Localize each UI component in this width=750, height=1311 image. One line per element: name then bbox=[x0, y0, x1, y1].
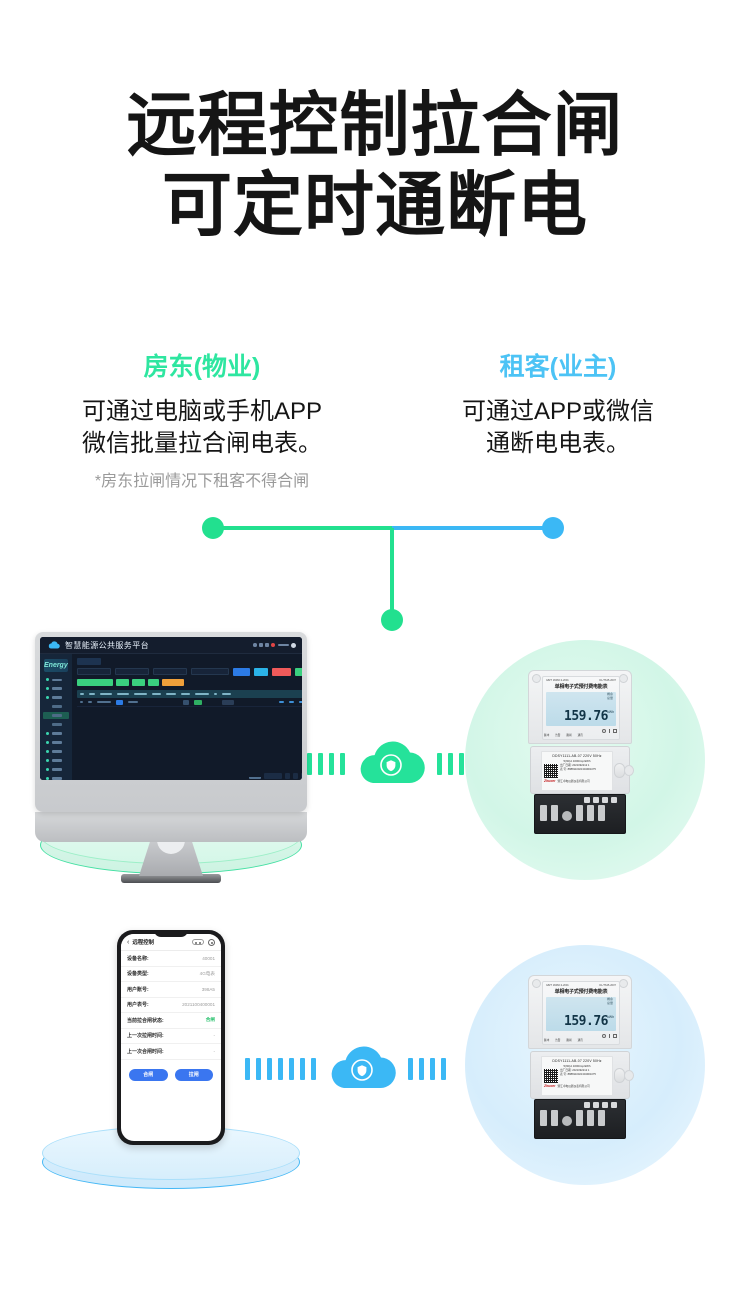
user-name-label bbox=[278, 644, 289, 646]
table-header-row bbox=[77, 690, 302, 698]
sidebar-item-9[interactable] bbox=[43, 757, 69, 764]
meter-label-housing: DDSY1111-AB-07 220V 50Hz 5(60)A 1600imp/… bbox=[530, 746, 630, 794]
pager-next-button[interactable] bbox=[301, 773, 302, 779]
meter-device: GB/T 18460.3-2001 DL/T645-2007 单相电子式预付费电… bbox=[528, 975, 632, 1141]
pager-page-1[interactable] bbox=[293, 773, 298, 779]
meter-company: 浙江卓电仪器仪表有限公司 bbox=[558, 779, 590, 783]
feature-column-tenant: 租客(业主) 可通过APP或微信 通断电电表。 bbox=[380, 352, 750, 493]
lcd-value: 159.76 bbox=[564, 709, 608, 724]
meter-screw-icon bbox=[532, 674, 541, 683]
form-row-value: - bbox=[213, 1049, 215, 1054]
meter-label-housing: DDSY1111-AB-07 220V 50Hz 5(60)A 1600imp/… bbox=[530, 1051, 630, 1099]
form-row-value: 398A5 bbox=[202, 987, 215, 992]
lcd-label-2: 总量 bbox=[549, 1002, 613, 1006]
meter-model-name: 单相电子式预付费电能表 bbox=[546, 683, 616, 690]
meter-led-group: 通讯 bbox=[578, 1028, 583, 1046]
meter-led-group: 跳闸 bbox=[566, 1028, 571, 1046]
meter-led-group: 通讯 bbox=[578, 723, 583, 741]
meter-side-icons bbox=[602, 729, 617, 733]
link-phone-to-meter bbox=[245, 1040, 446, 1097]
meter-led-group: 跳闸 bbox=[566, 723, 571, 741]
meter-label-model: DDSY1111-AB-07 220V 50Hz bbox=[544, 754, 610, 758]
batch-open-button[interactable] bbox=[272, 668, 291, 676]
landlord-body-line-1: 可通过电脑或手机APP bbox=[24, 396, 380, 428]
open-switch-button[interactable]: 拉闸 bbox=[175, 1069, 214, 1081]
monitor-body: 智慧能源公共服务平台 Energy bbox=[35, 632, 307, 812]
meter-illustration-green: GB/T 18460.3-2001 DL/T645-2007 单相电子式预付费电… bbox=[460, 635, 710, 885]
meter-screw-icon bbox=[532, 979, 541, 988]
reset-button[interactable] bbox=[254, 668, 268, 676]
led-label: 通讯 bbox=[578, 1039, 583, 1042]
sidebar-item-10[interactable] bbox=[43, 766, 69, 773]
form-row-key: 上一次合闸时间: bbox=[127, 1048, 164, 1055]
action-chip-bar bbox=[77, 679, 302, 687]
table-pager bbox=[77, 773, 302, 779]
connector-dot-right bbox=[542, 517, 564, 539]
headline-line-1: 远程控制拉合闸 bbox=[0, 88, 750, 162]
meter-mounting-ear bbox=[624, 1070, 634, 1081]
connector-dot-left bbox=[202, 517, 224, 539]
meter-bar-icon bbox=[609, 729, 610, 733]
qr-code-icon bbox=[544, 764, 558, 778]
sidebar-item-8[interactable] bbox=[43, 748, 69, 755]
form-row-value: - bbox=[213, 1033, 215, 1038]
filter-select-type[interactable] bbox=[115, 668, 149, 675]
sidebar-item-0[interactable] bbox=[43, 676, 69, 683]
meter-illustration-blue: GB/T 18460.3-2001 DL/T645-2007 单相电子式预付费电… bbox=[460, 940, 710, 1190]
tenant-title: 租客(业主) bbox=[380, 352, 736, 382]
meter-terminal-block bbox=[534, 794, 626, 834]
dashboard-app-title: 智慧能源公共服务平台 bbox=[65, 640, 149, 651]
led-label: 通讯 bbox=[578, 734, 583, 737]
meter-lcd-display: 剩余 总量 kWh 159.76 bbox=[546, 997, 616, 1031]
export-button[interactable] bbox=[116, 679, 129, 687]
terminal-square-icon bbox=[584, 1102, 590, 1108]
close-switch-button[interactable]: 合闸 bbox=[129, 1069, 168, 1081]
terminal-block-pin bbox=[551, 805, 558, 821]
link-dashes-left bbox=[245, 1058, 316, 1080]
meter-square-icon bbox=[613, 729, 617, 733]
tenant-body: 可通过APP或微信 通断电电表。 bbox=[380, 396, 736, 461]
sidebar-item-3[interactable] bbox=[43, 703, 69, 710]
led-label: 告警 bbox=[555, 1039, 560, 1042]
terminal-block-pin bbox=[598, 805, 605, 821]
sidebar-bullet-icon bbox=[46, 741, 49, 744]
terminal-block-pin bbox=[576, 1110, 583, 1126]
form-row-key: 用户账号: bbox=[127, 986, 149, 993]
sidebar-item-4[interactable] bbox=[43, 712, 69, 719]
form-row: 上一次拉闸时间: - bbox=[121, 1029, 221, 1045]
dashboard-body: Energy bbox=[40, 654, 302, 780]
status-badge: 合闸 bbox=[206, 1017, 215, 1023]
meter-label-line-2: 表 号: 8888110021304901075 bbox=[560, 1073, 610, 1077]
meter-standards: GB/T 18460.3-2001 DL/T645-2007 bbox=[546, 984, 616, 987]
avatar[interactable] bbox=[291, 643, 296, 648]
lcd-value: 159.76 bbox=[564, 1014, 608, 1029]
form-row-key: 设备类型: bbox=[127, 970, 149, 977]
led-label: 跳闸 bbox=[566, 1039, 571, 1042]
meter-lcd-display: 剩余 总量 kWh 159.76 bbox=[546, 692, 616, 726]
form-row: 上一次合闸时间: - bbox=[121, 1044, 221, 1060]
meter-label-spec: 5(60)A 1600imp/kWh bbox=[544, 759, 610, 763]
form-row-switch-status: 当前拉合闸状态: 合闸 bbox=[121, 1013, 221, 1029]
meter-nameplate: DDSY1111-AB-07 220V 50Hz 5(60)A 1600imp/… bbox=[541, 751, 613, 791]
meter-company: 浙江卓电仪器仪表有限公司 bbox=[558, 1084, 590, 1088]
terminal-round-pin bbox=[562, 811, 572, 821]
sidebar-bullet-icon bbox=[46, 678, 49, 681]
meter-label-line-2: 表 号: 8888110021304901075 bbox=[560, 768, 610, 772]
dashboard-sidebar: Energy bbox=[40, 654, 72, 780]
sidebar-item-7[interactable] bbox=[43, 739, 69, 746]
meter-standard-left: GB/T 18460.3-2001 bbox=[546, 984, 569, 987]
sidebar-logo: Energy bbox=[44, 659, 68, 672]
lcd-label-2: 总量 bbox=[549, 697, 613, 701]
sidebar-bullet-icon bbox=[46, 768, 49, 771]
headline-line-2: 可定时通断电 bbox=[0, 168, 750, 242]
landlord-body: 可通过电脑或手机APP 微信批量拉合闸电表。 bbox=[24, 396, 380, 461]
pager-total-label bbox=[249, 773, 261, 779]
meter-model-name: 单相电子式预付费电能表 bbox=[546, 988, 616, 995]
table-empty-area bbox=[77, 707, 302, 769]
remote-batch-switch-button[interactable] bbox=[77, 679, 113, 687]
meter-circle-icon bbox=[602, 1034, 606, 1038]
terminal-block-pin bbox=[551, 1110, 558, 1126]
lcd-unit: kWh bbox=[607, 1015, 614, 1019]
monitor-chin bbox=[35, 812, 307, 842]
terminal-block-pin bbox=[540, 1110, 547, 1126]
form-row: 用户表号: 2021100400001 bbox=[121, 998, 221, 1014]
form-row: 设备名称: 40001 bbox=[121, 951, 221, 967]
phone-device: ‹ 远程控制 设备名称: 40001 设备类型: 4G电表 bbox=[117, 930, 225, 1145]
filter-select-device[interactable] bbox=[77, 668, 111, 675]
notification-bell-icon[interactable] bbox=[271, 643, 275, 647]
terminal-square-icon bbox=[602, 797, 608, 803]
sidebar-item-11[interactable] bbox=[43, 775, 69, 780]
sidebar-bullet-icon bbox=[46, 759, 49, 762]
meter-standard-left: GB/T 18460.3-2001 bbox=[546, 679, 569, 682]
search-input[interactable] bbox=[191, 668, 229, 675]
promo-page: 远程控制拉合闸 可定时通断电 房东(物业) 可通过电脑或手机APP 微信批量拉合… bbox=[0, 0, 750, 1311]
meter-led-group: 脉冲 bbox=[544, 1028, 549, 1046]
terminal-square-icon bbox=[611, 1102, 617, 1108]
meter-screw-icon bbox=[619, 979, 628, 988]
form-row: 设备类型: 4G电表 bbox=[121, 967, 221, 983]
sidebar-item-6[interactable] bbox=[43, 730, 69, 737]
more-pill-icon[interactable] bbox=[192, 939, 204, 945]
meter-circle-icon bbox=[602, 729, 606, 733]
meter-screw-icon bbox=[619, 674, 628, 683]
pager-prev-button[interactable] bbox=[285, 773, 290, 779]
page-size-select[interactable] bbox=[264, 773, 282, 779]
query-button[interactable] bbox=[233, 668, 250, 676]
terminal-block-pin bbox=[598, 1110, 605, 1126]
terminal-square-icon bbox=[611, 797, 617, 803]
meter-top-housing: GB/T 18460.3-2001 DL/T645-2007 单相电子式预付费电… bbox=[528, 670, 632, 744]
filter-select-status[interactable] bbox=[153, 668, 187, 675]
filter-bar bbox=[77, 668, 302, 676]
feature-columns: 房东(物业) 可通过电脑或手机APP 微信批量拉合闸电表。 *房东拉闸情况下租客… bbox=[0, 352, 750, 493]
dashboard-topbar: 智慧能源公共服务平台 bbox=[40, 637, 302, 654]
sidebar-bullet-icon bbox=[46, 750, 49, 753]
cloud-icon bbox=[48, 641, 60, 649]
meter-top-housing: GB/T 18460.3-2001 DL/T645-2007 单相电子式预付费电… bbox=[528, 975, 632, 1049]
computer-illustration: 智慧能源公共服务平台 Energy bbox=[20, 630, 320, 890]
table-row[interactable] bbox=[77, 698, 302, 707]
meter-mounting-ear bbox=[624, 765, 634, 776]
form-row-key: 当前拉合闸状态: bbox=[127, 1017, 164, 1024]
fullscreen-icon[interactable] bbox=[265, 643, 269, 647]
sidebar-bullet-icon bbox=[46, 696, 49, 699]
form-row-key: 设备名称: bbox=[127, 955, 149, 962]
cloud-shield-icon bbox=[324, 1040, 400, 1097]
landlord-title: 房东(物业) bbox=[24, 352, 380, 382]
grid-icon[interactable] bbox=[259, 643, 263, 647]
info-icon[interactable] bbox=[253, 643, 257, 647]
monitor-screen: 智慧能源公共服务平台 Energy bbox=[40, 637, 302, 780]
action-button-row: 合闸 拉闸 bbox=[121, 1060, 221, 1081]
meter-led-group: 告警 bbox=[555, 723, 560, 741]
sidebar-logo-text: Energy bbox=[44, 662, 68, 669]
terminal-square-icon bbox=[602, 1102, 608, 1108]
chevron-left-icon[interactable]: ‹ bbox=[127, 939, 129, 946]
timer-task-button[interactable] bbox=[162, 679, 184, 687]
terminal-block-pin bbox=[587, 1110, 594, 1126]
sidebar-bullet-icon bbox=[46, 777, 49, 780]
form-row-value: 2021100400001 bbox=[182, 1002, 215, 1007]
phone-notch bbox=[154, 930, 188, 937]
meter-device: GB/T 18460.3-2001 DL/T645-2007 单相电子式预付费电… bbox=[528, 670, 632, 836]
meter-standard-right: DL/T645-2007 bbox=[599, 679, 616, 682]
meter-brand: Zhuoer bbox=[544, 779, 556, 783]
meter-label-spec: 5(60)A 1600imp/kWh bbox=[544, 1064, 610, 1068]
tenant-body-line-2: 通断电电表。 bbox=[380, 428, 736, 460]
form-row-key: 用户表号: bbox=[127, 1001, 149, 1008]
refresh-button[interactable] bbox=[132, 679, 145, 687]
qr-code-icon bbox=[544, 1069, 558, 1083]
meter-label-model: DDSY1111-AB-07 220V 50Hz bbox=[544, 1059, 610, 1063]
meter-standards: GB/T 18460.3-2001 DL/T645-2007 bbox=[546, 679, 616, 682]
form-row-key: 上一次拉闸时间: bbox=[127, 1032, 164, 1039]
cloud-shield-icon bbox=[353, 735, 429, 792]
app-title: 远程控制 bbox=[132, 938, 154, 946]
terminal-block-pin bbox=[587, 805, 594, 821]
meter-side-icons bbox=[602, 1034, 617, 1038]
sidebar-item-2[interactable] bbox=[43, 694, 69, 701]
led-label: 跳闸 bbox=[566, 734, 571, 737]
meter-led-group: 脉冲 bbox=[544, 723, 549, 741]
meter-square-icon bbox=[613, 1034, 617, 1038]
tenant-body-line-1: 可通过APP或微信 bbox=[380, 396, 736, 428]
sidebar-item-5[interactable] bbox=[43, 721, 69, 728]
lcd-unit: kWh bbox=[607, 710, 614, 714]
connector-dot-bottom bbox=[381, 609, 403, 631]
terminal-square-icon bbox=[593, 797, 599, 803]
landlord-note: *房东拉闸情况下租客不得合闸 bbox=[24, 472, 380, 493]
meter-bar-icon bbox=[609, 1034, 610, 1038]
connector-diagram bbox=[0, 505, 750, 635]
batch-close-button[interactable] bbox=[295, 668, 302, 676]
sidebar-item-1[interactable] bbox=[43, 685, 69, 692]
form-row: 用户账号: 398A5 bbox=[121, 982, 221, 998]
terminal-block-pin bbox=[540, 805, 547, 821]
terminal-block-pin bbox=[576, 805, 583, 821]
phone-screen: ‹ 远程控制 设备名称: 40001 设备类型: 4G电表 bbox=[121, 934, 221, 1141]
led-label: 脉冲 bbox=[544, 734, 549, 737]
led-label: 脉冲 bbox=[544, 1039, 549, 1042]
meter-nameplate: DDSY1111-AB-07 220V 50Hz 5(60)A 1600imp/… bbox=[541, 1056, 613, 1096]
led-label: 告警 bbox=[555, 734, 560, 737]
feature-column-landlord: 房东(物业) 可通过电脑或手机APP 微信批量拉合闸电表。 *房东拉闸情况下租客… bbox=[0, 352, 380, 493]
meter-terminal-block bbox=[534, 1099, 626, 1139]
form-row-value: 40001 bbox=[202, 956, 215, 961]
gear-icon[interactable] bbox=[208, 939, 215, 946]
terminal-round-pin bbox=[562, 1116, 572, 1126]
landlord-body-line-2: 微信批量拉合闸电表。 bbox=[24, 428, 380, 460]
terminal-square-icon bbox=[593, 1102, 599, 1108]
breadcrumb-chip bbox=[77, 658, 101, 665]
sidebar-bullet-icon bbox=[46, 732, 49, 735]
delete-button[interactable] bbox=[148, 679, 159, 687]
meter-brand: Zhuoer bbox=[544, 1084, 556, 1088]
dashboard-main bbox=[72, 654, 302, 780]
terminal-square-icon bbox=[584, 797, 590, 803]
link-dashes-right bbox=[408, 1058, 446, 1080]
form-row-value: 4G电表 bbox=[200, 971, 215, 977]
meter-standard-right: DL/T645-2007 bbox=[599, 984, 616, 987]
breadcrumb bbox=[77, 658, 302, 665]
page-headline: 远程控制拉合闸 可定时通断电 bbox=[0, 88, 750, 242]
sidebar-bullet-icon bbox=[46, 687, 49, 690]
meter-led-group: 告警 bbox=[555, 1028, 560, 1046]
